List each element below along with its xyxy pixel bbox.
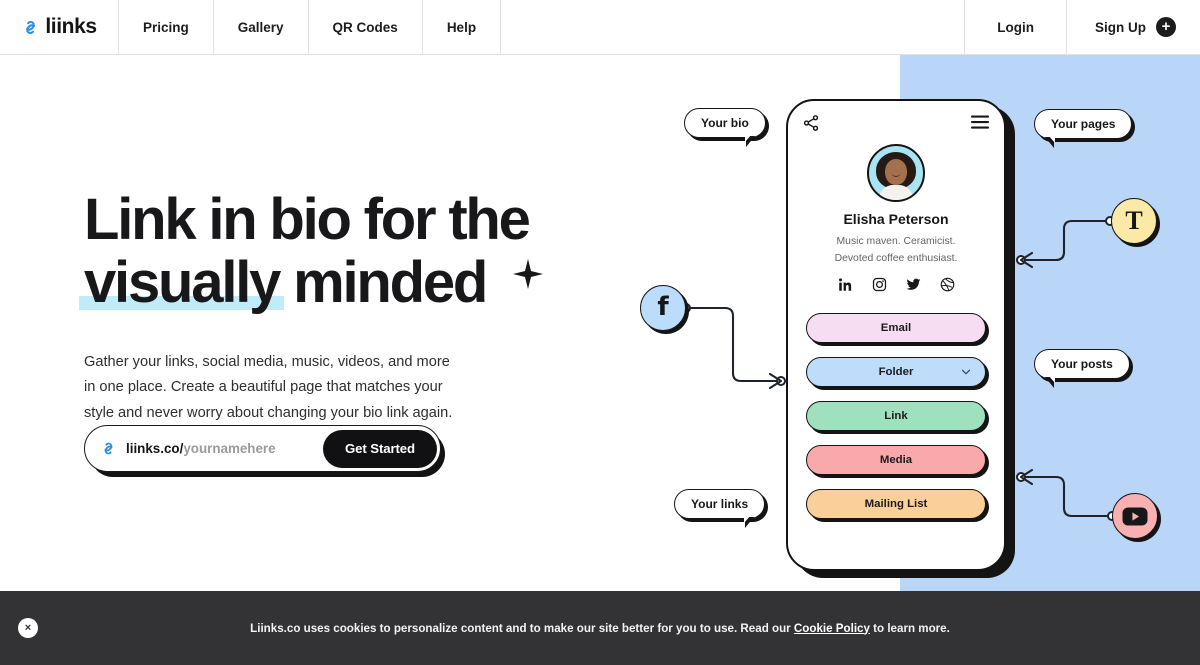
profile-link-folder[interactable]: Folder (806, 357, 986, 387)
liinks-link-logo-icon (100, 440, 117, 457)
claim-url-form: liinks.co/yournamehere Get Started (84, 425, 441, 472)
brand-name: liinks (45, 15, 96, 39)
profile-name: Elisha Peterson (802, 211, 990, 227)
profile-link-buttons: Email Folder Link (802, 313, 990, 519)
profile-link-label: Email (881, 322, 911, 334)
bubble-tail-icon (745, 517, 754, 528)
bubble-tail-icon (1045, 377, 1054, 388)
cookie-text-after: to learn more. (870, 622, 950, 635)
facebook-node[interactable]: f (640, 285, 686, 331)
nav-spacer (501, 0, 965, 54)
callout-your-pages: Your pages (1034, 109, 1132, 139)
bubble-tail-icon (746, 136, 755, 147)
callout-your-pages-label: Your pages (1051, 117, 1115, 131)
profile-link-label: Folder (879, 366, 914, 378)
cookie-text-before: Liinks.co uses cookies to personalize co… (250, 622, 794, 635)
brand-logo[interactable]: liinks (0, 0, 119, 54)
page-root: liinks Pricing Gallery QR Codes Help Log… (0, 0, 1200, 665)
callout-your-bio: Your bio (684, 108, 766, 138)
hero-left-column: Link in bio for the visually minded Gath… (84, 190, 554, 426)
callout-your-posts: Your posts (1034, 349, 1130, 379)
profile-link-mailing-list[interactable]: Mailing List (806, 489, 986, 519)
phone-header (802, 114, 990, 136)
cookie-banner: × Liinks.co uses cookies to personalize … (0, 591, 1200, 665)
callout-your-links-label: Your links (691, 497, 748, 511)
cookie-policy-link[interactable]: Cookie Policy (794, 622, 870, 635)
profile-link-item: Mailing List (806, 489, 986, 519)
text-node[interactable]: T (1111, 198, 1157, 244)
headline-line-2: visually minded (84, 253, 554, 312)
get-started-button[interactable]: Get Started (323, 430, 437, 468)
cookie-message: Liinks.co uses cookies to personalize co… (0, 622, 1200, 635)
url-input-bar[interactable]: liinks.co/yournamehere Get Started (84, 425, 441, 472)
chevron-down-icon (960, 366, 972, 378)
profile-link-label: Mailing List (865, 498, 928, 510)
profile-link-link[interactable]: Link (806, 401, 986, 431)
hero-subcopy: Gather your links, social media, music, … (84, 350, 456, 425)
nav-right-group: Login Sign Up + (965, 0, 1200, 54)
url-text: liinks.co/yournamehere (126, 441, 276, 456)
profile-bio-line-1: Music maven. Ceramicist. (802, 234, 990, 251)
dribbble-icon[interactable] (940, 277, 955, 297)
profile-link-label: Link (884, 410, 907, 422)
page-title: Link in bio for the visually minded (84, 190, 554, 312)
youtube-icon (1122, 507, 1148, 526)
nav-item-qr-codes[interactable]: QR Codes (309, 0, 423, 54)
bubble-tail-icon (1045, 137, 1054, 148)
headline-highlight-word: visually (84, 253, 279, 312)
search-input[interactable]: yournamehere (183, 441, 275, 456)
profile-link-item: Media (806, 445, 986, 475)
phone-preview: Elisha Peterson Music maven. Ceramicist.… (786, 99, 1006, 571)
nav-item-gallery[interactable]: Gallery (214, 0, 309, 54)
profile-link-media[interactable]: Media (806, 445, 986, 475)
share-icon[interactable] (802, 114, 820, 132)
youtube-node[interactable] (1112, 493, 1158, 539)
plus-icon: + (1156, 17, 1176, 37)
close-icon[interactable]: × (18, 618, 38, 638)
linkedin-icon[interactable] (838, 277, 853, 297)
url-domain: liinks.co/ (126, 441, 183, 456)
profile-link-email[interactable]: Email (806, 313, 986, 343)
text-icon: T (1125, 208, 1142, 234)
instagram-icon[interactable] (872, 277, 887, 297)
login-button[interactable]: Login (965, 0, 1067, 54)
profile-social-icons (802, 277, 990, 297)
callout-your-posts-label: Your posts (1051, 357, 1113, 371)
avatar-body (879, 185, 913, 202)
callout-your-links: Your links (674, 489, 765, 519)
callout-your-bio-label: Your bio (701, 116, 749, 130)
profile-bio: Music maven. Ceramicist. Devoted coffee … (802, 234, 990, 268)
profile-link-item: Folder (806, 357, 986, 387)
signup-button[interactable]: Sign Up + (1067, 0, 1200, 54)
nav-item-pricing[interactable]: Pricing (119, 0, 214, 54)
sparkle-icon (512, 258, 544, 290)
profile-link-item: Link (806, 401, 986, 431)
twitter-icon[interactable] (906, 277, 921, 297)
top-navbar: liinks Pricing Gallery QR Codes Help Log… (0, 0, 1200, 55)
headline-rest-word: minded (293, 250, 486, 315)
liinks-link-logo-icon (21, 18, 40, 37)
facebook-icon: f (657, 294, 668, 323)
headline-line-1: Link in bio for the (84, 187, 529, 252)
signup-label: Sign Up (1095, 20, 1146, 35)
avatar (867, 144, 925, 202)
profile-link-label: Media (880, 454, 912, 466)
profile-link-item: Email (806, 313, 986, 343)
nav-item-help[interactable]: Help (423, 0, 501, 54)
profile-bio-line-2: Devoted coffee enthusiast. (802, 251, 990, 268)
hamburger-menu-icon[interactable] (970, 114, 990, 130)
